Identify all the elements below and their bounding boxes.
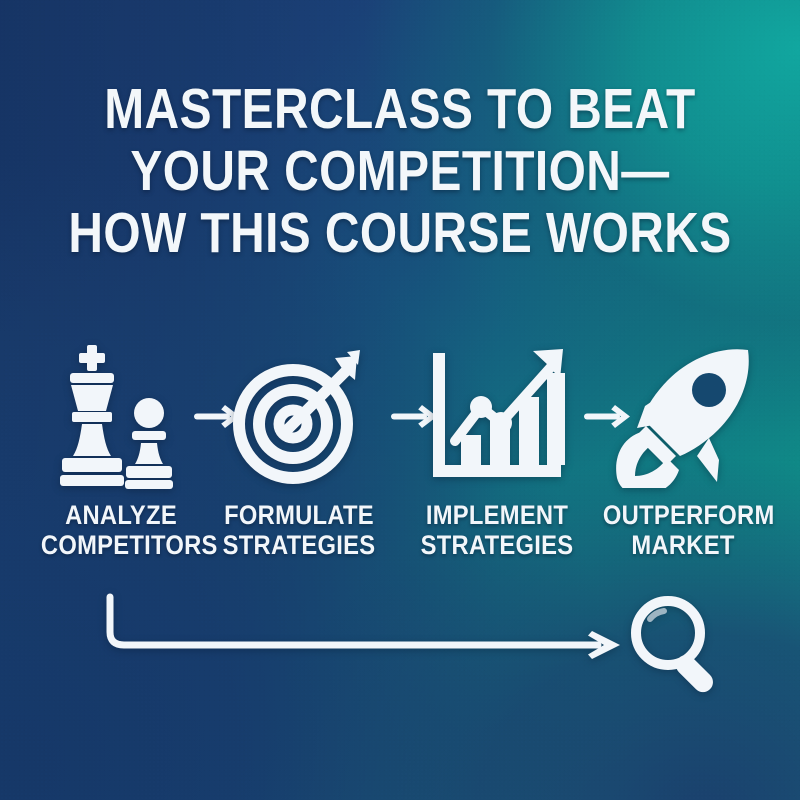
step-label-line-2: STRATEGIES: [417, 530, 577, 560]
step-label-formulate-strategies: FORMULATE STRATEGIES: [219, 500, 379, 560]
rocket-icon: [592, 336, 774, 496]
page-title: MASTERCLASS TO BEAT YOUR COMPETITION— HO…: [0, 78, 800, 264]
step-implement-strategies[interactable]: IMPLEMENT STRATEGIES: [406, 336, 588, 576]
process-steps: ANALYZE COMPETITORS: [26, 336, 774, 576]
title-line-1: MASTERCLASS TO BEAT: [64, 78, 736, 140]
step-label-line-1: OUTPERFORM: [603, 500, 775, 530]
chess-pieces-icon: [30, 336, 212, 496]
step-label-line-1: IMPLEMENT: [426, 500, 568, 530]
step-label-line-2: MARKET: [603, 530, 763, 560]
step-label-line-2: COMPETITORS: [41, 530, 201, 560]
step-label-line-1: FORMULATE: [224, 500, 374, 530]
step-label-implement-strategies: IMPLEMENT STRATEGIES: [417, 500, 577, 560]
loop-arrow-icon: [110, 597, 620, 659]
step-analyze-competitors[interactable]: ANALYZE COMPETITORS: [30, 336, 212, 576]
title-line-2: YOUR COMPETITION—: [64, 140, 736, 202]
step-formulate-strategies[interactable]: FORMULATE STRATEGIES: [208, 336, 390, 576]
growth-chart-icon: [406, 336, 588, 496]
step-label-analyze-competitors: ANALYZE COMPETITORS: [41, 500, 201, 560]
step-outperform-market[interactable]: OUTPERFORM MARKET: [592, 336, 774, 576]
magnifying-glass-icon: [636, 601, 717, 696]
title-line-3: HOW THIS COURSE WORKS: [64, 202, 736, 264]
step-label-outperform-market: OUTPERFORM MARKET: [603, 500, 763, 560]
feedback-loop: [0, 575, 800, 705]
step-label-line-1: ANALYZE: [65, 500, 177, 530]
infographic-canvas: MASTERCLASS TO BEAT YOUR COMPETITION— HO…: [0, 0, 800, 800]
target-arrow-icon: [208, 336, 390, 496]
step-label-line-2: STRATEGIES: [219, 530, 379, 560]
